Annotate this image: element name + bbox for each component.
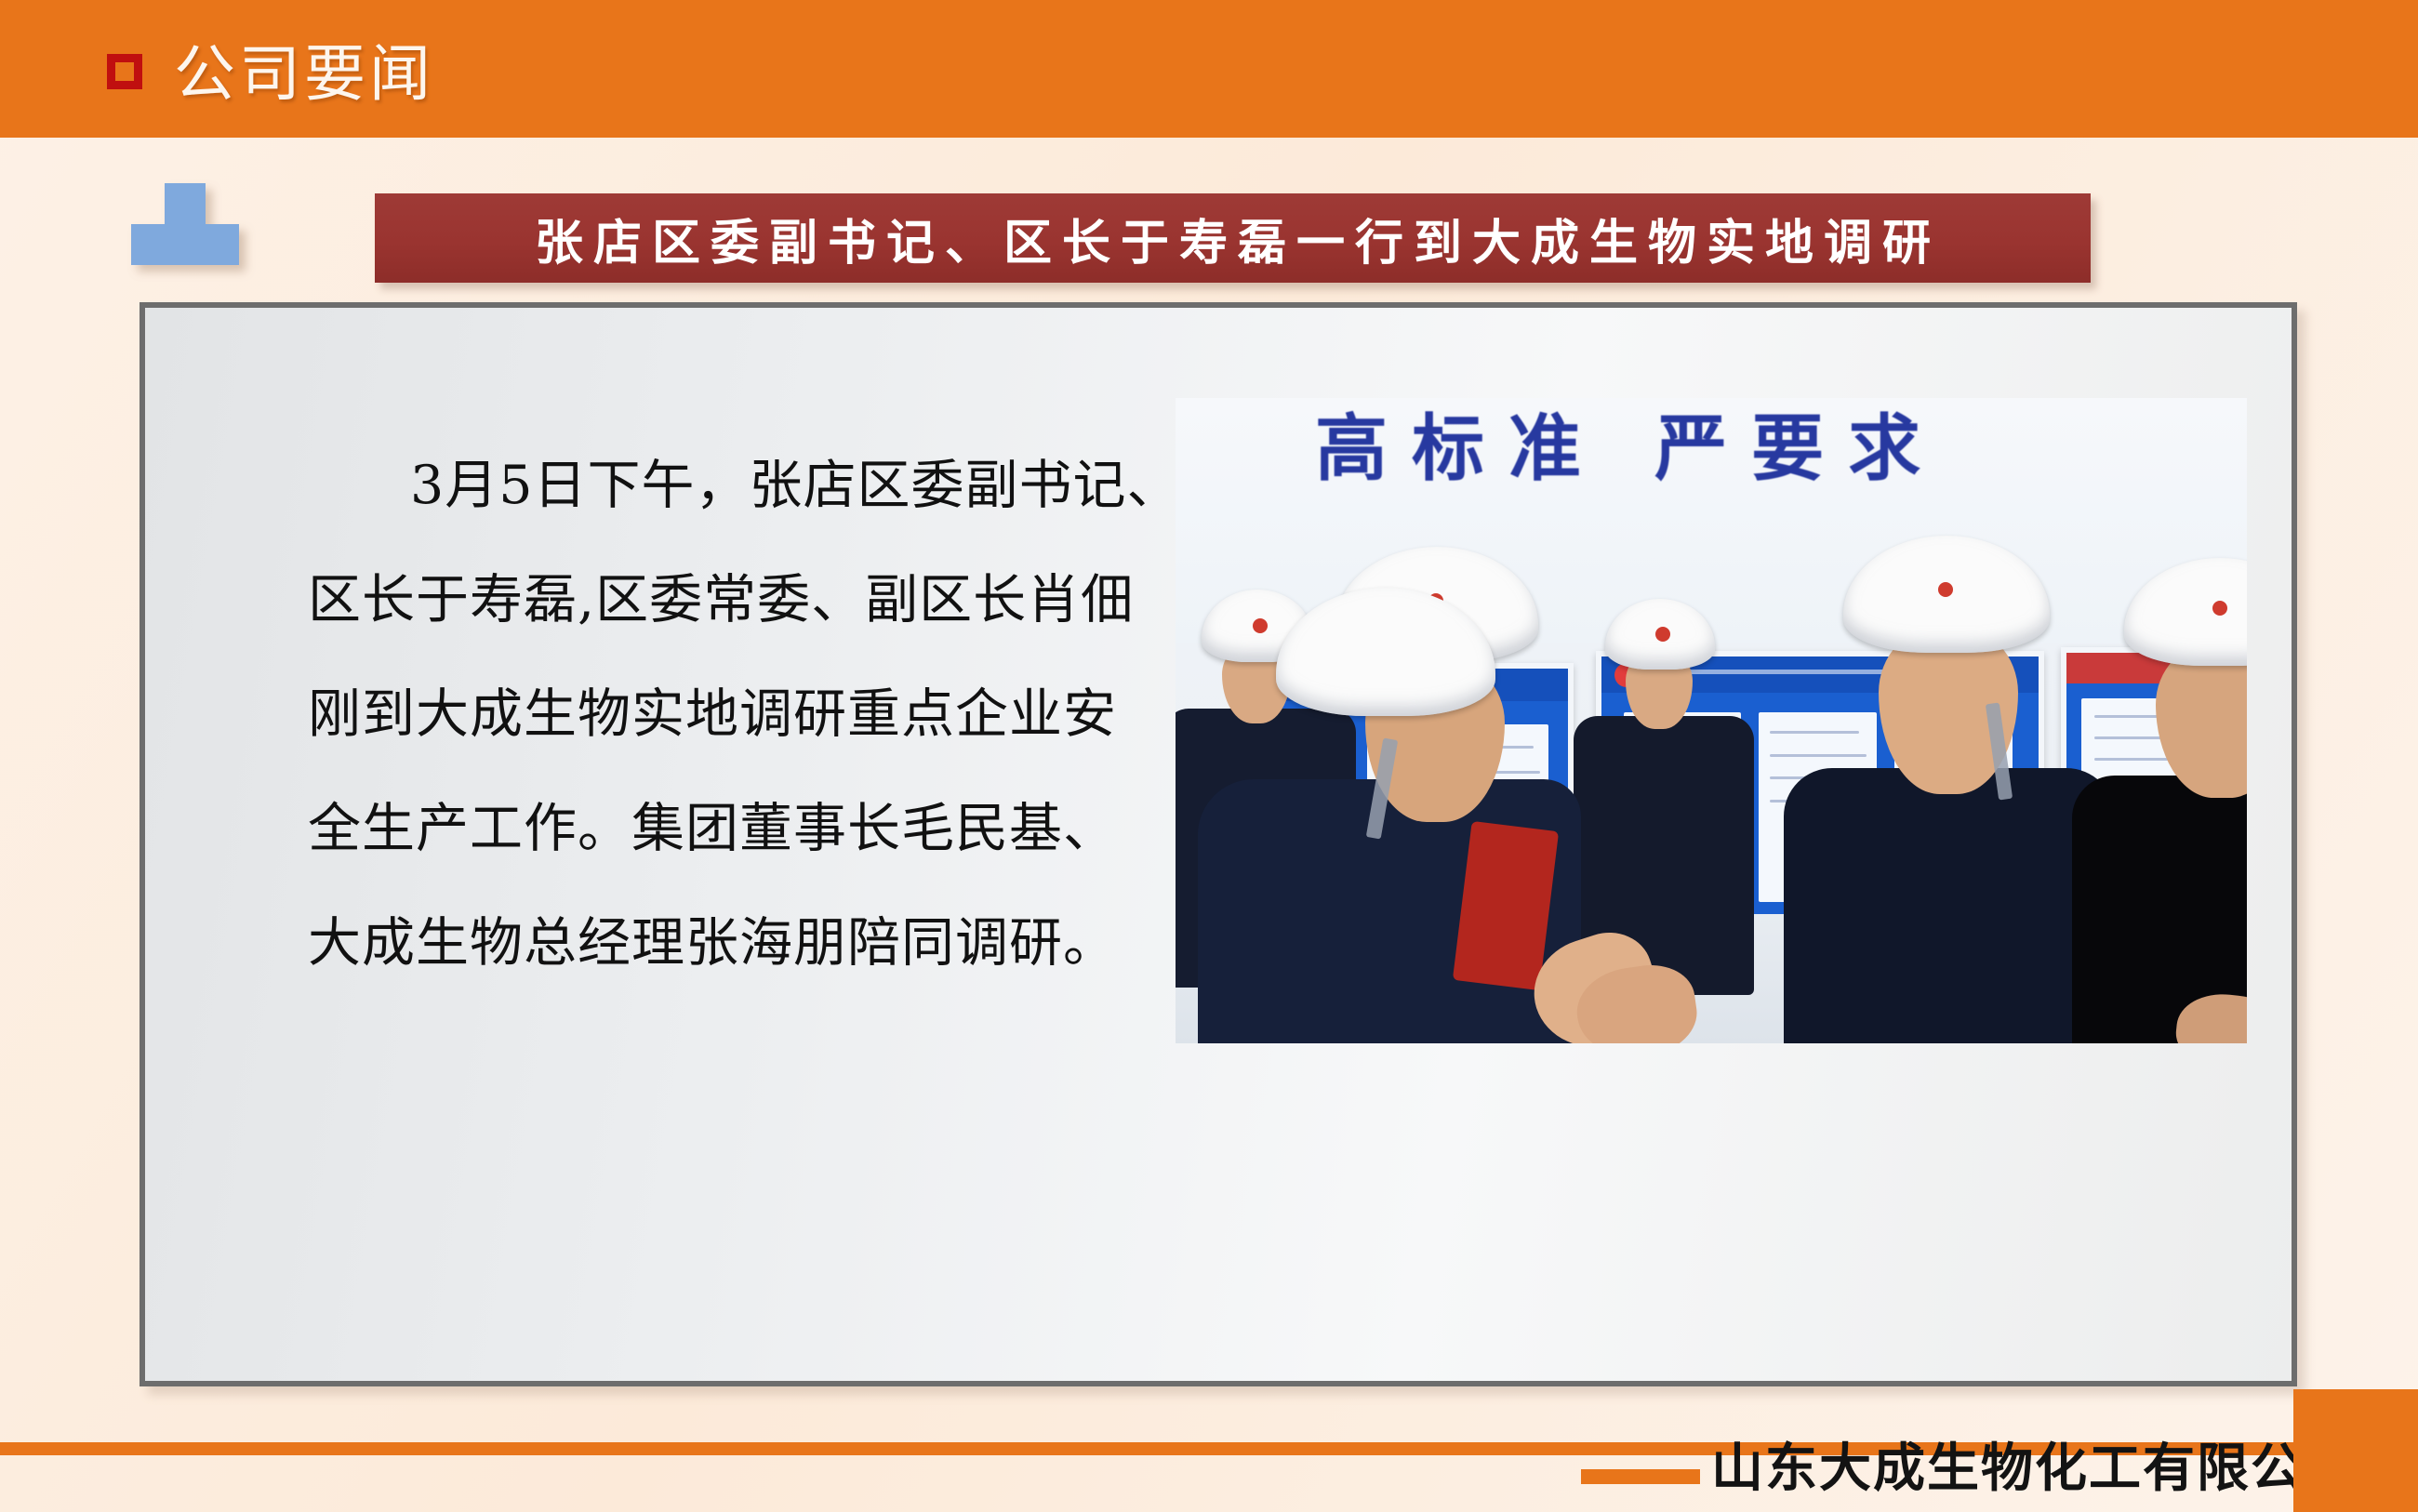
blue-cross-icon [131,183,239,265]
news-title-bar: 张店区委副书记、区长于寿磊一行到大成生物实地调研 [375,193,2091,283]
article-line-text: 区长于寿磊,区委常委、副区长肖佃 [308,569,1135,630]
site-inspection-photo: 高标准 严要求 [1176,398,2247,1043]
slide-canvas: 公司要闻 张店区委副书记、区长于寿磊一行到大成生物实地调研 3月5日下午，张店区… [0,0,2418,1512]
article-line-text: 全生产工作。集团董事长毛民基、 [308,798,1117,859]
article-line: 区长于寿磊,区委常委、副区长肖佃 [308,543,1256,657]
content-panel: 3月5日下午，张店区委副书记、 区长于寿磊,区委常委、副区长肖佃 刚到大成生物实… [139,302,2297,1386]
article-line-text: 大成生物总经理张海朋陪同调研。 [308,912,1117,974]
article-line: 3月5日下午，张店区委副书记、 [308,429,1256,543]
header-band: 公司要闻 [0,0,2418,138]
footer-company-name: 山东大成生物化工有限公司 [1711,1426,2358,1502]
article-line: 刚到大成生物实地调研重点企业安 [308,657,1256,772]
page-title: 公司要闻 [174,24,434,113]
footer-corner-block [2293,1389,2418,1512]
header-inner: 公司要闻 [107,0,434,138]
article-line-text: 刚到大成生物实地调研重点企业安 [308,683,1117,745]
person-coat [1784,768,2115,1043]
article-line: 大成生物总经理张海朋陪同调研。 [308,886,1256,1001]
red-square-bullet-icon [107,54,142,89]
article-line: 全生产工作。集团董事长毛民基、 [308,772,1256,886]
footer-dash-icon [1581,1469,1700,1484]
cross-vertical-bar [165,183,206,265]
article-body: 3月5日下午，张店区委副书记、 区长于寿磊,区委常委、副区长肖佃 刚到大成生物实… [308,429,1256,1001]
wall-slogan-text: 高标准 严要求 [1315,398,1945,495]
news-title: 张店区委副书记、区长于寿磊一行到大成生物实地调研 [525,204,1941,273]
article-line-text: 3月5日下午，张店区委副书记、 [410,455,1181,516]
